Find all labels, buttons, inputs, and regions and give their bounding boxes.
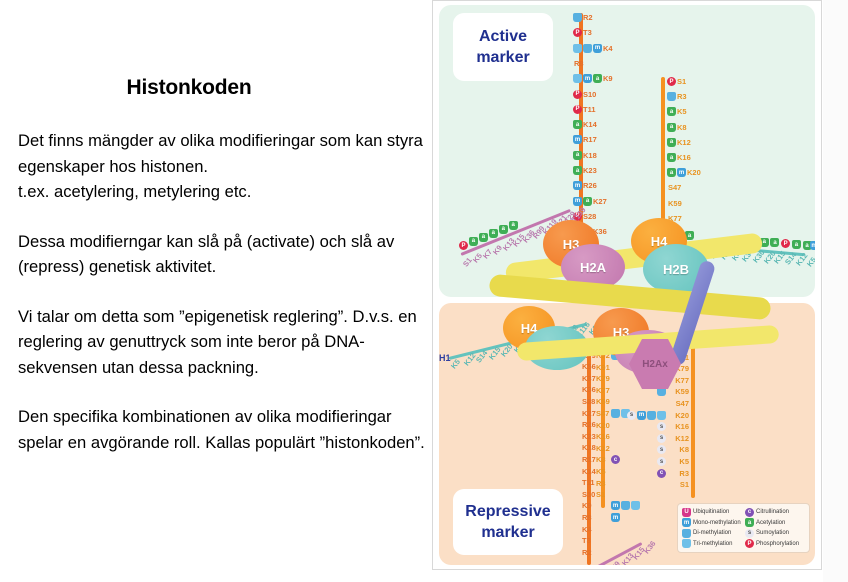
residue-label: S1	[677, 77, 686, 86]
repressive-h3-R17-citrulline: c	[611, 455, 620, 464]
residue-label: K18	[583, 151, 597, 160]
residue-modifications: P	[573, 28, 582, 37]
residue-label: K23	[582, 432, 596, 441]
residue-label: K4	[603, 44, 613, 53]
active-h3-tail-residue-K18: aK18	[573, 151, 597, 160]
legend-label: Citrullination	[756, 509, 789, 515]
residue-label: K14	[582, 467, 596, 476]
active-h3-tail-residue-T3: PT3	[573, 28, 592, 37]
active-h3-tail-K14-acetyl: a	[573, 120, 582, 129]
residue-label: R8	[574, 59, 584, 68]
residue-label: K77	[596, 386, 610, 395]
repressive-h4-tail-residue-K59: K59	[595, 397, 610, 406]
slide-text-column: Histonkoden Det finns mängder av olika m…	[0, 0, 432, 582]
repressive-h3-tail-residue-K9: K9	[581, 501, 592, 510]
residue-label: K20	[687, 168, 701, 177]
slide-paragraph: Det finns mängder av olika modifieringar…	[18, 128, 430, 205]
residue-modifications: P	[667, 77, 676, 86]
residue-label: K27	[593, 197, 607, 206]
page-title: Histonkoden	[0, 76, 378, 100]
active-h3-tail-K27-mono-methyl: m	[573, 197, 582, 206]
legend-item: Di-methylation	[682, 528, 742, 539]
active-h4-tail-K16-acetyl: a	[667, 153, 676, 162]
repressive-h3-K9-di-methyl	[621, 501, 630, 510]
repressive-h4-right-residue-K8: K8	[669, 445, 689, 454]
active-h3-tail-residue-T11: PT11	[573, 105, 596, 114]
active-h3-tail-residue-S10: PS10	[573, 90, 596, 99]
residue-label: K12	[677, 138, 691, 147]
residue-label: R3	[677, 92, 687, 101]
repressive-h3-tail-residue-T11: T11	[581, 478, 595, 487]
residue-label: K8	[677, 123, 687, 132]
residue-label: K12	[596, 444, 610, 453]
active-h4-tail-residue-K12: K12a	[667, 138, 691, 147]
residue-label: T11	[582, 478, 595, 487]
residue-label: K9	[603, 74, 613, 83]
active-h3-tail-K4-di-methyl	[583, 44, 592, 53]
residue-label: K16	[596, 432, 610, 441]
repressive-h4-right-K8-sumo: s	[657, 445, 666, 454]
residue-label: K36	[582, 385, 596, 394]
active-h3-tail-residue-K23: aK23	[573, 166, 597, 175]
active-h3-tail-R2-di-methyl	[573, 13, 582, 22]
active-marker-label: Active marker	[453, 13, 553, 81]
residue-label: K4	[582, 525, 592, 534]
repressive-h3-tail-residue-K14: K14	[581, 467, 596, 476]
residue-label: S1	[596, 490, 605, 499]
repressive-h4-tail-residue-S1: S1	[595, 490, 605, 499]
residue-modifications: m	[573, 181, 582, 190]
active-h3-tail-K4-mono-methyl: m	[593, 44, 602, 53]
residue-label: K18	[582, 443, 596, 452]
repressive-h3-K9-mono-methyl: m	[611, 501, 620, 510]
active-h4-tail-S1-phospho: P	[667, 77, 676, 86]
legend-label: Acetylation	[756, 520, 785, 526]
legend-item: aAcetylation	[745, 518, 805, 529]
repressive-h3-tail-residue-K18: K18	[581, 443, 596, 452]
h1-label: H1	[439, 353, 451, 363]
legend-label: Ubiquitination	[693, 509, 729, 515]
active-h3-tail-K9-acetyl: a	[593, 74, 602, 83]
residue-modifications: a	[667, 123, 676, 132]
residue-label: K9	[582, 501, 592, 510]
residue-label: K27	[582, 409, 596, 418]
legend-mono-methylation-icon: m	[682, 518, 691, 527]
repressive-h4-tail-residue-K8: K8	[595, 455, 606, 464]
residue-label: K20	[596, 421, 610, 430]
active-h3-tail-residue-R26: mR26	[573, 181, 597, 190]
residue-label: S10	[582, 490, 595, 499]
repressive-h4-right-residue-K16: K16	[669, 422, 689, 431]
repressive-h3-tail-residue-R8: R8	[581, 513, 592, 522]
active-h4-tail-R3-di-methyl	[667, 92, 676, 101]
active-h3-tail-residue-K9: maK9	[573, 74, 613, 83]
active-h3-tail-R26-mono-methyl: m	[573, 181, 582, 190]
active-h4-tail-residue-R3: R3	[667, 92, 687, 101]
repressive-h4-right-residue-K20: K20	[669, 411, 689, 420]
active-h4-tail-residue-S1: S1P	[667, 77, 686, 86]
residue-label: K5	[677, 107, 687, 116]
repressive-marker-label: Repressive marker	[453, 489, 563, 555]
active-h4-tail-K20-mono-methyl: m	[677, 168, 686, 177]
repressive-h3-tail-residue-T3: T3	[581, 536, 591, 545]
active-h4-tail-K20-acetyl: a	[667, 168, 676, 177]
active-h2b-tail-K12-acetyl: a	[792, 240, 801, 249]
residue-modifications: m	[573, 44, 602, 53]
repressive-h3-K27-di-methyl	[611, 409, 620, 418]
residue-modifications: ma	[573, 74, 602, 83]
repressive-h4-right-K12-sumo: s	[657, 434, 666, 443]
repressive-h4-right-residue-K12: K12	[669, 434, 689, 443]
residue-modifications: ma	[573, 197, 592, 206]
repressive-h4-right-K20-mono-methyl: m	[637, 411, 646, 420]
repressive-h3-tail-residue-K36: K36	[581, 385, 596, 394]
residue-label: K5	[596, 467, 606, 476]
repressive-h3-R8-mono-methyl: m	[611, 513, 620, 522]
active-h4-tail-K5-acetyl: a	[667, 107, 676, 116]
residue-label: R17	[583, 135, 597, 144]
legend-sumoylation-icon: s	[745, 529, 754, 538]
legend-tri-methylation-icon	[682, 539, 691, 548]
repressive-h3-tail-residue-R2: R2	[581, 548, 592, 557]
residue-modifications: a	[573, 166, 582, 175]
legend-label: Phosphorylation	[756, 541, 799, 547]
residue-label: T3	[583, 28, 592, 37]
residue-label: R26	[583, 181, 597, 190]
repressive-h3-tail-residue-K4: K4	[581, 525, 592, 534]
legend-acetylation-icon: a	[745, 518, 754, 527]
repressive-h4-right-K20-di-methyl	[647, 411, 656, 420]
legend-label: Di-methylation	[693, 530, 731, 536]
repressive-h4-tail-residue-K16: K16	[595, 432, 610, 441]
active-h4-tail-K12-acetyl: a	[667, 138, 676, 147]
repressive-h4-right-residue-R3: R3	[669, 469, 689, 478]
repressive-h4-tail-residue-R3: R3	[595, 479, 606, 488]
active-h3-tail-residue-R2: R2	[573, 13, 593, 22]
residue-label: K14	[583, 120, 597, 129]
repressive-h4-tail-residue-K20: K20	[595, 421, 610, 430]
legend-item: UUbiquitination	[682, 507, 742, 518]
active-h3-tail-K23-acetyl: a	[573, 166, 582, 175]
repressive-marker-line2: marker	[481, 522, 534, 543]
legend-item: mMono-methylation	[682, 518, 742, 529]
active-h4-tail-residue-K20: K20am	[667, 168, 701, 177]
active-h3-tail-T3-phospho: P	[573, 28, 582, 37]
active-h4-tail-residue-K16: K16a	[667, 153, 691, 162]
residue-modifications	[667, 92, 676, 101]
residue-modifications: a	[667, 138, 676, 147]
repressive-h4-tail-residue-K77: K77	[595, 386, 610, 395]
active-h3-tail-K27-acetyl: a	[583, 197, 592, 206]
repressive-h4-right-residue-K5: K5	[669, 457, 689, 466]
legend-item: PPhosphorylation	[745, 539, 805, 550]
legend-label: Tri-methylation	[693, 541, 732, 547]
residue-label: S10	[583, 90, 596, 99]
repressive-h3-tail-residue-K27: K27	[581, 409, 596, 418]
legend-item: Tri-methylation	[682, 539, 742, 550]
residue-modifications: am	[667, 168, 686, 177]
residue-label: S47	[596, 409, 609, 418]
active-h3-tail-residue-R17: mR17	[573, 135, 597, 144]
residue-label: T3	[582, 536, 591, 545]
slide-paragraph: Dessa modifierngar kan slå på (activate)…	[18, 229, 430, 280]
legend-label: Sumoylation	[756, 530, 789, 536]
repressive-h4-tail-residue-S47: S47	[595, 409, 609, 418]
repressive-h4-right-K16-sumo: s	[657, 422, 666, 431]
residue-label: S28	[582, 397, 595, 406]
residue-modifications: P	[573, 90, 582, 99]
residue-label: R8	[582, 513, 592, 522]
right-gutter	[823, 0, 848, 582]
repressive-h3-K9-tri-methyl	[631, 501, 640, 510]
repressive-h3-tail-residue-K23: K23	[581, 432, 596, 441]
active-h3-tail-T11-phospho: P	[573, 105, 582, 114]
active-marker-line2: marker	[476, 47, 529, 68]
repressive-h4-right-R3-citrulline: c	[657, 469, 666, 478]
slide-body-text: Det finns mängder av olika modifieringar…	[18, 128, 430, 455]
active-h2b-tail-K5-mono-methyl: m	[810, 241, 815, 250]
repressive-h3-tail-residue-S10: S10	[581, 490, 595, 499]
residue-modifications: a	[667, 153, 676, 162]
residue-label: T11	[583, 105, 596, 114]
legend-item: cCitrullination	[745, 507, 805, 518]
active-h3-tail-R17-mono-methyl: m	[573, 135, 582, 144]
residue-label: R3	[596, 479, 606, 488]
residue-label: R2	[582, 548, 592, 557]
residue-label: K23	[583, 166, 597, 175]
repressive-h4-right-residue-S1: S1	[669, 480, 689, 489]
nucleosome-core: H3 H4 H2A H2B H4 H3 H2B H2A	[483, 206, 783, 376]
active-h3-tail-K4-tri-methyl	[573, 44, 582, 53]
active-h3-tail-S10-phospho: P	[573, 90, 582, 99]
residue-label: K16	[677, 153, 691, 162]
repressive-h3-tail-residue-R26: R26	[581, 420, 596, 429]
active-h4-tail-K8-acetyl: a	[667, 123, 676, 132]
active-h2a-tail-S1-phospho: P	[459, 241, 468, 250]
slide-paragraph: Vi talar om detta som ”epigenetisk regle…	[18, 304, 430, 381]
residue-label: R26	[582, 420, 596, 429]
legend-ubiquitination-icon: U	[682, 508, 691, 517]
repressive-h4-right-K20-sumo: s	[627, 411, 636, 420]
residue-label: S47	[668, 183, 681, 192]
legend-phosphorylation-icon: P	[745, 539, 754, 548]
legend-item: sSumoylation	[745, 528, 805, 539]
residue-label: R17	[582, 455, 596, 464]
residue-modifications	[573, 13, 582, 22]
active-h3-tail-residue-R8: R8	[573, 59, 584, 68]
modification-legend: UUbiquitinationcCitrullinationmMono-meth…	[677, 503, 810, 553]
residue-modifications: a	[667, 107, 676, 116]
slide-paragraph: Den specifika kombinationen av olika mod…	[18, 404, 430, 455]
active-h3-tail-residue-K4: mK4	[573, 44, 613, 53]
repressive-h3-tail-residue-S28: S28	[581, 397, 595, 406]
repressive-marker-line1: Repressive	[465, 501, 550, 522]
residue-label: K59	[596, 397, 610, 406]
residue-modifications: a	[573, 120, 582, 129]
residue-modifications: P	[573, 105, 582, 114]
active-h3-tail-K9-tri-methyl	[573, 74, 582, 83]
active-h3-tail-residue-K14: aK14	[573, 120, 597, 129]
residue-modifications: a	[573, 151, 582, 160]
legend-di-methylation-icon	[682, 529, 691, 538]
legend-label: Mono-methylation	[693, 520, 741, 526]
histone-code-figure: Active marker R2PT3mK4R8maK9PS10PT11aK14…	[432, 0, 822, 570]
repressive-h4-tail-residue-K5: K5	[595, 467, 606, 476]
active-h3-tail-residue-K27: maK27	[573, 197, 607, 206]
active-marker-line1: Active	[479, 26, 527, 47]
active-h3-tail-K18-acetyl: a	[573, 151, 582, 160]
repressive-h4-right-residue-S47: S47	[669, 399, 689, 408]
residue-label: R2	[583, 13, 593, 22]
active-h3-tail-K9-mono-methyl: m	[583, 74, 592, 83]
repressive-h3-tail-residue-R17: R17	[581, 455, 596, 464]
residue-modifications: m	[573, 135, 582, 144]
repressive-h4-right-residue-K59: K59	[669, 387, 689, 396]
repressive-h4-right-K5-sumo: s	[657, 457, 666, 466]
repressive-h4-tail-residue-K12: K12	[595, 444, 610, 453]
active-h4-tail-residue-K8: K8a	[667, 123, 687, 132]
active-h4-tail-residue-S47: S47	[667, 183, 681, 192]
active-h4-tail-residue-K5: K5a	[667, 107, 687, 116]
repressive-h4-right-K20-tri-methyl	[657, 411, 666, 420]
residue-label: K8	[596, 455, 606, 464]
legend-citrullination-icon: c	[745, 508, 754, 517]
active-h2a-tail-K5-acetyl: a	[469, 237, 478, 246]
